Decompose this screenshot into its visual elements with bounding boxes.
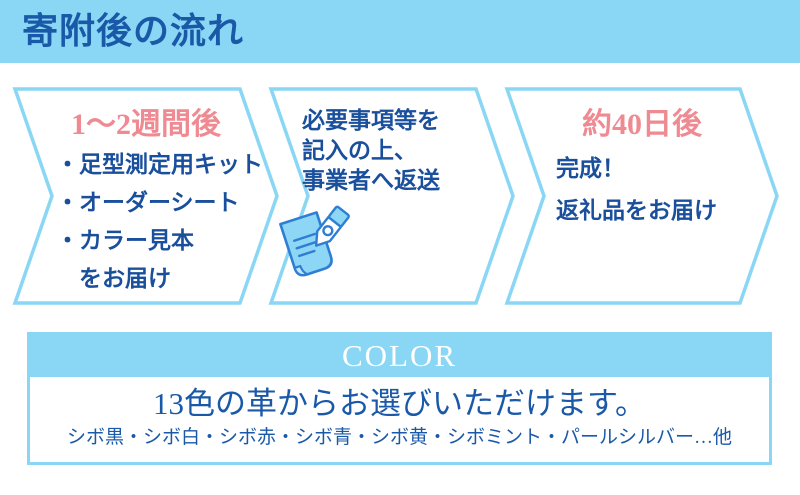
step-3-line-1: 完成！ [504, 154, 780, 184]
step-1-heading: 1〜2週間後 [12, 108, 280, 142]
step-1-line-3: ・カラー見本 [12, 226, 280, 256]
step-2-line-3: 事業者へ返送 [302, 166, 516, 196]
step-chevron-3: 約40日後 完成！ 返礼品をお届け [504, 86, 780, 306]
color-section-list: シボ黒・シボ白・シボ赤・シボ青・シボ黄・シボミント・パールシルバー…他 [30, 425, 769, 451]
step-chevron-1: 1〜2週間後 ・足型測定用キット ・オーダーシート ・カラー見本 をお届け [12, 86, 280, 306]
process-steps: 1〜2週間後 ・足型測定用キット ・オーダーシート ・カラー見本 をお届け 必要… [0, 86, 800, 306]
step-3-heading: 約40日後 [504, 108, 780, 142]
step-2-line-2: 記入の上、 [302, 136, 516, 166]
page-title: 寄附後の流れ [22, 6, 244, 56]
step-3-line-2: 返礼品をお届け [504, 196, 780, 226]
step-1-line-4: をお届け [12, 264, 280, 294]
color-section-header: COLOR [30, 335, 769, 377]
step-1-line-2: ・オーダーシート [12, 188, 280, 218]
step-2-line-1: 必要事項等を [302, 106, 516, 136]
step-1-line-1: ・足型測定用キット [12, 150, 280, 180]
color-section: COLOR 13色の革からお選びいただけます。 シボ黒・シボ白・シボ赤・シボ青・… [27, 332, 772, 465]
step-chevron-2: 必要事項等を 記入の上、 事業者へ返送 [268, 86, 516, 306]
color-section-headline: 13色の革からお選びいただけます。 [30, 383, 769, 425]
